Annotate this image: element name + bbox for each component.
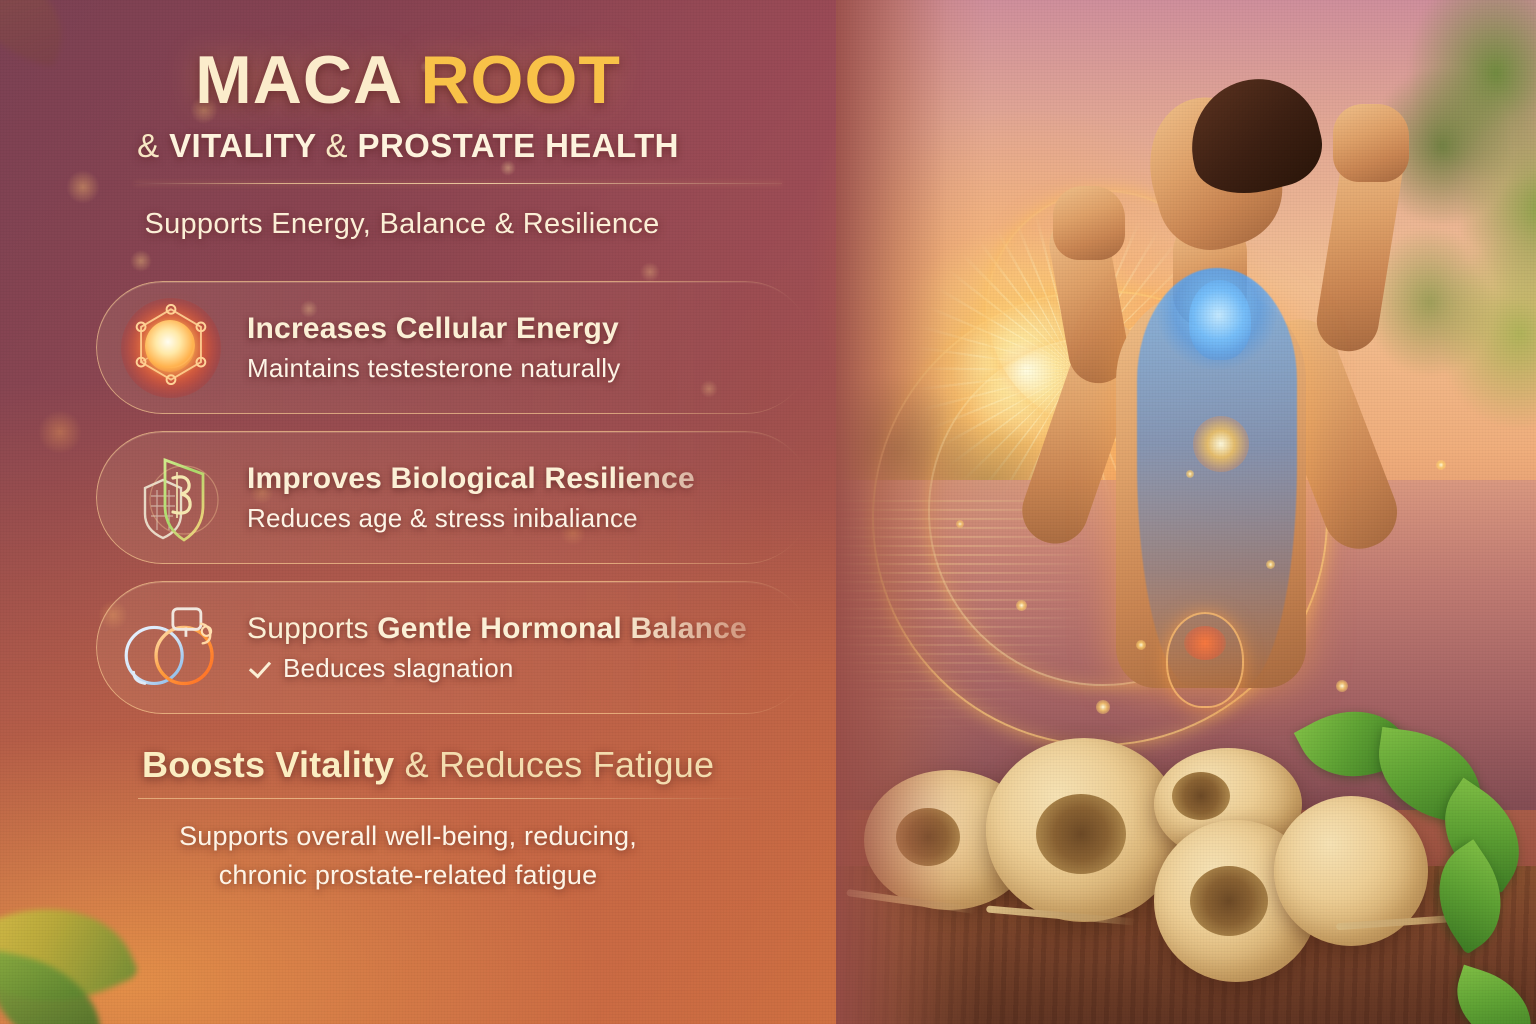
checkbox-checked-icon[interactable] <box>247 656 272 681</box>
sparkle <box>1266 560 1275 569</box>
page-title: MACA ROOT <box>96 46 840 115</box>
feature-subtitle: Beduces slagnation <box>247 653 747 684</box>
anatomical-overlay-head <box>1189 280 1251 360</box>
cell-energy-icon <box>115 292 227 404</box>
feature-title: Supports Gentle Hormonal Balance <box>247 612 747 646</box>
feature-card-text: Improves Biological Resilience Reduces a… <box>247 462 695 534</box>
balance-rings-icon <box>115 592 227 704</box>
right-fist <box>1333 104 1409 182</box>
footer-section: Boosts Vitality & Reduces Fatigue Suppor… <box>96 744 840 894</box>
feature-card-cellular-energy[interactable]: Increases Cellular Energy Maintains test… <box>96 281 812 414</box>
subtitle-ampersand-2: & <box>326 127 348 164</box>
maca-root-crown <box>896 808 960 866</box>
footer-description-line-1: Supports overall well-being, reducing, <box>96 817 720 855</box>
maca-root-crown <box>1190 866 1268 936</box>
feature-card-list: Increases Cellular Energy Maintains test… <box>96 281 840 714</box>
maca-root-crown <box>1172 772 1230 820</box>
feature-title: Increases Cellular Energy <box>247 312 621 346</box>
title-divider <box>134 183 782 184</box>
content-panel: MACA ROOT & VITALITY & PROSTATE HEALTH S… <box>0 0 880 1024</box>
feature-title-strong: Improves Biological Resilience <box>247 462 695 495</box>
maca-root-crown <box>1036 794 1126 874</box>
footer-title: Boosts Vitality & Reduces Fatigue <box>96 744 840 786</box>
feature-title: Improves Biological Resilience <box>247 462 695 496</box>
subtitle-rest: PROSTATE HEALTH <box>358 127 679 164</box>
hero-artwork <box>836 0 1536 1024</box>
infographic-poster: MACA ROOT & VITALITY & PROSTATE HEALTH S… <box>0 0 1536 1024</box>
energy-core-glow <box>1193 416 1249 472</box>
feature-card-text: Increases Cellular Energy Maintains test… <box>247 312 621 384</box>
feature-subtitle-text: Maintains testesterone naturally <box>247 353 621 384</box>
sparkle <box>1016 600 1027 611</box>
feature-title-strong: Increases Cellular Energy <box>247 312 619 345</box>
footer-title-bold: Boosts Vitality <box>142 744 394 785</box>
footer-divider <box>138 798 760 799</box>
page-subtitle: & VITALITY & PROSTATE HEALTH <box>96 127 840 165</box>
feature-title-strong: Gentle Hormonal Balance <box>377 612 747 645</box>
feature-card-text: Supports Gentle Hormonal Balance Beduces… <box>247 612 747 684</box>
shield-resilience-icon <box>115 442 227 554</box>
footer-title-light: & Reduces Fatigue <box>394 744 714 785</box>
tagline: Supports Energy, Balance & Resilience <box>96 208 840 241</box>
feature-subtitle-text: Beduces slagnation <box>283 653 514 684</box>
headline-word-1: MACA <box>195 42 400 118</box>
feature-subtitle: Maintains testesterone naturally <box>247 353 621 384</box>
feature-subtitle-text: Reduces age & stress inibaliance <box>247 503 638 534</box>
maca-roots-cluster <box>836 690 1536 1024</box>
sparkle <box>1436 460 1446 470</box>
footer-description-line-2: chronic prostate-related fatigue <box>96 856 720 894</box>
shield-glyph <box>115 442 227 554</box>
interlocking-rings-glyph <box>115 592 227 704</box>
feature-title-lite: Supports <box>247 612 377 645</box>
left-fist <box>1053 186 1125 260</box>
prostate-glyph-core <box>1184 626 1226 660</box>
sparkle <box>1186 470 1194 478</box>
headline-word-2: ROOT <box>420 42 620 118</box>
sparkle <box>1136 640 1146 650</box>
footer-description: Supports overall well-being, reducing, c… <box>96 817 840 894</box>
feature-card-hormonal-balance[interactable]: Supports Gentle Hormonal Balance Beduces… <box>96 581 812 714</box>
feature-card-biological-resilience[interactable]: Improves Biological Resilience Reduces a… <box>96 431 812 564</box>
sparkle <box>956 520 964 528</box>
feature-subtitle: Reduces age & stress inibaliance <box>247 503 695 534</box>
subtitle-ampersand-1: & <box>137 127 159 164</box>
subtitle-strong: VITALITY <box>169 127 316 164</box>
